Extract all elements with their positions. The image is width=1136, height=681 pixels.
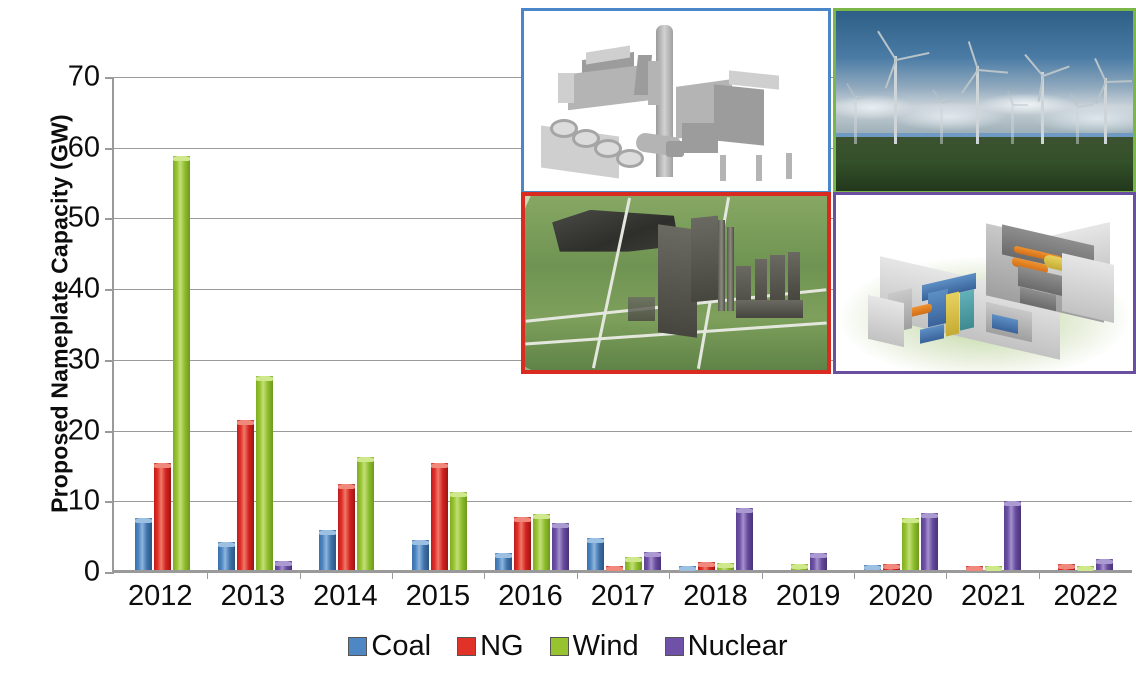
legend-item-ng[interactable]: NG (457, 630, 524, 663)
bar-cap (533, 514, 550, 519)
bar-wind-2012[interactable] (173, 156, 190, 570)
bar-cap (237, 420, 254, 425)
bar-ng-2013[interactable] (237, 420, 254, 570)
bar-coal-2020[interactable] (864, 565, 881, 570)
bar-ng-2020[interactable] (883, 564, 900, 570)
bar-cap (338, 484, 355, 489)
bar-coal-2018[interactable] (679, 566, 696, 570)
bar-nuclear-2017[interactable] (644, 552, 661, 570)
bar-coal-2017[interactable] (587, 538, 604, 570)
bar-cap (736, 508, 753, 513)
x-tick-label-2018: 2018 (669, 580, 762, 613)
wind-farm-photo-inset (833, 8, 1136, 194)
legend-swatch-nuclear (665, 637, 684, 656)
bar-nuclear-2019[interactable] (810, 553, 827, 570)
legend-swatch-wind (550, 637, 569, 656)
y-tick-label-70: 70 (0, 61, 100, 94)
bar-wind-2013[interactable] (256, 376, 273, 570)
y-tick-mark-70 (105, 77, 114, 79)
bar-wind-2018[interactable] (717, 563, 734, 570)
bar-wind-2022[interactable] (1077, 566, 1094, 570)
x-tick-label-2013: 2013 (207, 580, 300, 613)
bar-coal-2016[interactable] (495, 553, 512, 570)
x-tick-label-2015: 2015 (392, 580, 485, 613)
bar-cap (154, 463, 171, 468)
bar-cap (902, 518, 919, 523)
chart-root: Proposed Nameplate Capacity (GW) 0102030… (0, 0, 1136, 681)
legend-label-wind: Wind (573, 630, 639, 663)
bar-cap (431, 463, 448, 468)
bar-nuclear-2021[interactable] (1004, 501, 1021, 570)
bar-cap (412, 540, 429, 545)
bar-cap (1058, 564, 1075, 569)
legend-label-coal: Coal (371, 630, 431, 663)
bar-nuclear-2022[interactable] (1096, 559, 1113, 570)
y-tick-label-20: 20 (0, 414, 100, 447)
bar-group-2013 (208, 77, 300, 570)
y-tick-label-0: 0 (0, 556, 100, 589)
legend-item-wind[interactable]: Wind (550, 630, 639, 663)
bar-cap (495, 553, 512, 558)
bar-cap (864, 565, 881, 570)
bar-cap (625, 557, 642, 562)
bar-cap (698, 562, 715, 567)
bar-nuclear-2020[interactable] (921, 513, 938, 570)
bar-cap (810, 553, 827, 558)
y-tick-label-50: 50 (0, 202, 100, 235)
bar-wind-2014[interactable] (357, 457, 374, 570)
legend-item-nuclear[interactable]: Nuclear (665, 630, 788, 663)
bar-cap (135, 518, 152, 523)
bar-cap (1004, 501, 1021, 506)
bar-ng-2014[interactable] (338, 484, 355, 570)
coal-plant-rendering-inset (521, 8, 831, 194)
legend-item-coal[interactable]: Coal (348, 630, 431, 663)
legend-swatch-ng (457, 637, 476, 656)
bar-cap (256, 376, 273, 381)
bar-ng-2018[interactable] (698, 562, 715, 570)
clouds (836, 83, 1133, 144)
bar-cap (883, 564, 900, 569)
bar-coal-2013[interactable] (218, 542, 235, 570)
x-tick-label-2014: 2014 (299, 580, 392, 613)
x-tick-label-2016: 2016 (484, 580, 577, 613)
bar-cap (450, 492, 467, 497)
y-tick-label-40: 40 (0, 273, 100, 306)
x-tick-label-2017: 2017 (577, 580, 670, 613)
natural-gas-plant-aerial-inset (521, 192, 831, 374)
bar-cap (791, 564, 808, 569)
bar-cap (514, 517, 531, 522)
bar-group-2012 (116, 77, 208, 570)
bar-wind-2015[interactable] (450, 492, 467, 570)
x-tick-label-2012: 2012 (114, 580, 207, 613)
y-tick-mark-10 (105, 501, 114, 503)
bar-wind-2019[interactable] (791, 564, 808, 570)
bar-cap (966, 566, 983, 571)
bar-cap (717, 563, 734, 568)
bar-coal-2015[interactable] (412, 540, 429, 570)
bar-group-2015 (393, 77, 485, 570)
y-tick-mark-60 (105, 148, 114, 150)
bar-cap (644, 552, 661, 557)
bar-coal-2014[interactable] (319, 530, 336, 570)
y-tick-mark-0 (105, 572, 114, 574)
bar-cap (218, 542, 235, 547)
bar-nuclear-2016[interactable] (552, 523, 569, 570)
bar-ng-2022[interactable] (1058, 564, 1075, 570)
bar-cap (1096, 559, 1113, 564)
y-tick-mark-50 (105, 218, 114, 220)
x-axis-tick-labels: 2012201320142015201620172018201920202021… (114, 580, 1132, 613)
bar-nuclear-2013[interactable] (275, 561, 292, 570)
ground (836, 137, 1133, 191)
bar-ng-2017[interactable] (606, 566, 623, 570)
y-tick-label-30: 30 (0, 343, 100, 376)
bar-ng-2016[interactable] (514, 517, 531, 570)
bar-ng-2021[interactable] (966, 566, 983, 570)
nuclear-plant-cutaway-inset (833, 192, 1136, 374)
x-tick-label-2021: 2021 (947, 580, 1040, 613)
bar-ng-2012[interactable] (154, 463, 171, 570)
y-tick-label-10: 10 (0, 485, 100, 518)
legend-label-nuclear: Nuclear (688, 630, 788, 663)
bar-wind-2017[interactable] (625, 557, 642, 570)
y-tick-label-60: 60 (0, 131, 100, 164)
bar-wind-2021[interactable] (985, 566, 1002, 570)
bar-ng-2015[interactable] (431, 463, 448, 570)
bar-cap (275, 561, 292, 566)
bar-wind-2020[interactable] (902, 518, 919, 570)
legend-label-ng: NG (480, 630, 524, 663)
bar-cap (357, 457, 374, 462)
legend-swatch-coal (348, 637, 367, 656)
bar-cap (921, 513, 938, 518)
bar-cap (606, 566, 623, 571)
bar-cap (552, 523, 569, 528)
x-tick-label-2022: 2022 (1039, 580, 1132, 613)
x-tick-label-2019: 2019 (762, 580, 855, 613)
x-tick-label-2020: 2020 (854, 580, 947, 613)
chart-legend: CoalNGWindNuclear (0, 630, 1136, 663)
y-tick-mark-40 (105, 289, 114, 291)
y-tick-mark-20 (105, 431, 114, 433)
y-tick-mark-30 (105, 360, 114, 362)
gridline-0 (114, 572, 1132, 573)
bar-cap (1077, 566, 1094, 571)
bar-wind-2016[interactable] (533, 514, 550, 570)
bar-coal-2012[interactable] (135, 518, 152, 570)
bar-cap (587, 538, 604, 543)
bar-nuclear-2018[interactable] (736, 508, 753, 570)
bar-cap (319, 530, 336, 535)
bar-group-2014 (301, 77, 393, 570)
bar-cap (173, 156, 190, 161)
bar-cap (679, 566, 696, 571)
bar-cap (985, 566, 1002, 571)
